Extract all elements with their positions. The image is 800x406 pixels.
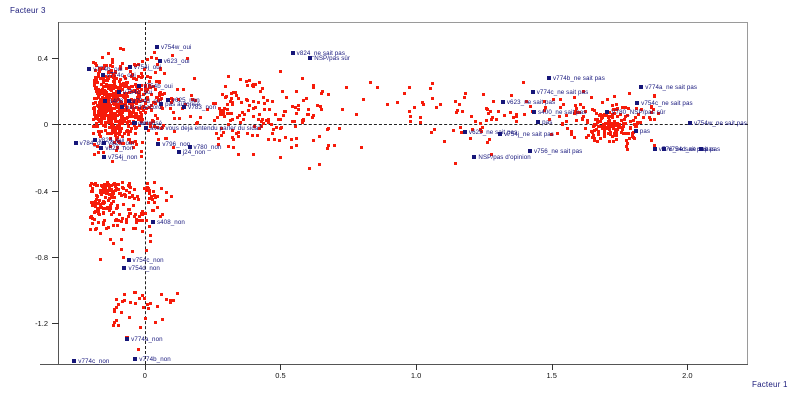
modality-point — [132, 121, 136, 125]
individual-point — [258, 113, 261, 116]
individual-point — [515, 120, 518, 123]
individual-point — [278, 139, 281, 142]
individual-point — [119, 83, 122, 86]
individual-point — [140, 150, 143, 153]
individual-point — [600, 114, 603, 117]
individual-point — [259, 90, 262, 93]
individual-point — [107, 52, 110, 55]
individual-point — [216, 116, 219, 119]
individual-point — [246, 99, 249, 102]
individual-point — [116, 224, 119, 227]
individual-point — [145, 219, 148, 222]
modality-point — [291, 51, 295, 55]
individual-point — [615, 129, 618, 132]
individual-point — [153, 181, 156, 184]
individual-point — [97, 221, 100, 224]
individual-point — [163, 92, 166, 95]
individual-point — [112, 92, 115, 95]
modality-point — [158, 59, 162, 63]
individual-point — [154, 321, 157, 324]
individual-point — [94, 210, 97, 213]
individual-point — [89, 184, 92, 187]
individual-point — [123, 132, 126, 135]
individual-point — [138, 219, 141, 222]
point-label: v756_ne sait pas — [534, 148, 582, 155]
individual-point — [301, 77, 304, 80]
individual-point — [134, 291, 137, 294]
individual-point — [254, 83, 257, 86]
point-label: v774c_non — [78, 358, 109, 365]
plot-frame-top — [58, 22, 748, 23]
individual-point — [102, 223, 105, 226]
individual-point — [607, 132, 610, 135]
individual-point — [650, 139, 653, 142]
x-tick — [687, 364, 688, 370]
individual-point — [273, 138, 276, 141]
individual-point — [605, 114, 608, 117]
individual-point — [139, 111, 142, 114]
individual-point — [615, 138, 618, 141]
individual-point — [291, 105, 294, 108]
individual-point — [120, 194, 123, 197]
individual-point — [469, 137, 472, 140]
individual-point — [413, 106, 416, 109]
modality-point — [102, 155, 106, 159]
individual-point — [117, 219, 120, 222]
individual-point — [319, 105, 322, 108]
individual-point — [653, 118, 656, 121]
individual-point — [295, 90, 298, 93]
individual-point — [107, 199, 110, 202]
individual-point — [522, 81, 525, 84]
individual-point — [613, 95, 616, 98]
individual-point — [624, 122, 627, 125]
x-tick-label: 2.0 — [672, 371, 702, 380]
modality-point — [74, 141, 78, 145]
modality-point — [463, 130, 467, 134]
individual-point — [109, 238, 112, 241]
modality-point — [72, 359, 76, 363]
y-tick — [52, 323, 59, 324]
individual-point — [232, 138, 235, 141]
individual-point — [110, 123, 113, 126]
individual-point — [226, 108, 229, 111]
individual-point — [120, 220, 123, 223]
individual-point — [145, 249, 148, 252]
individual-point — [153, 201, 156, 204]
individual-point — [94, 200, 97, 203]
individual-point — [237, 97, 240, 100]
individual-point — [419, 116, 422, 119]
individual-point — [628, 92, 631, 95]
point-label: v623_oui — [164, 58, 190, 65]
individual-point — [101, 185, 104, 188]
individual-point — [118, 111, 121, 114]
individual-point — [510, 94, 513, 97]
modality-point — [177, 150, 181, 154]
individual-point — [151, 209, 154, 212]
individual-point — [461, 110, 464, 113]
individual-point — [133, 188, 136, 191]
modality-point — [634, 129, 638, 133]
individual-point — [122, 48, 125, 51]
individual-point — [224, 96, 227, 99]
individual-point — [231, 101, 234, 104]
individual-point — [112, 224, 115, 227]
point-label: s400_ne sait pas — [538, 109, 586, 116]
point-label: v754w_oui — [161, 44, 191, 51]
individual-point — [102, 211, 105, 214]
individual-point — [153, 51, 156, 54]
individual-point — [105, 79, 108, 82]
individual-point — [454, 100, 457, 103]
individual-point — [147, 201, 150, 204]
individual-point — [626, 142, 629, 145]
individual-point — [97, 91, 100, 94]
point-label: v754c_oui — [123, 89, 152, 96]
individual-point — [327, 93, 330, 96]
individual-point — [150, 195, 153, 198]
y-tick-label: -0.4 — [18, 187, 48, 196]
individual-point — [592, 134, 595, 137]
individual-point — [362, 98, 365, 101]
individual-point — [93, 97, 96, 100]
individual-point — [128, 196, 131, 199]
individual-point — [100, 130, 103, 133]
point-label: v625_non — [172, 97, 200, 104]
individual-point — [118, 130, 121, 133]
individual-point — [615, 134, 618, 137]
individual-point — [266, 99, 269, 102]
individual-point — [653, 144, 656, 147]
individual-point — [584, 127, 587, 130]
individual-point — [98, 120, 101, 123]
individual-point — [189, 115, 192, 118]
individual-point — [164, 137, 167, 140]
individual-point — [595, 128, 598, 131]
individual-point — [109, 207, 112, 210]
individual-point — [134, 132, 137, 135]
point-label: v774c_ne sait pas — [537, 89, 589, 96]
individual-point — [318, 135, 321, 138]
individual-point — [246, 132, 249, 135]
individual-point — [515, 113, 518, 116]
modality-point — [155, 45, 159, 49]
individual-point — [113, 183, 116, 186]
individual-point — [98, 133, 101, 136]
y-tick-label: 0.4 — [18, 54, 48, 63]
individual-point — [360, 146, 363, 149]
point-label: v754w_ne sait pas — [694, 120, 747, 127]
point-label: pas — [542, 119, 552, 126]
individual-point — [318, 163, 321, 166]
modality-point — [605, 110, 609, 114]
modality-point — [137, 84, 141, 88]
individual-point — [338, 127, 341, 130]
individual-point — [280, 126, 283, 129]
individual-point — [111, 192, 114, 195]
individual-point — [459, 126, 462, 129]
individual-point — [230, 112, 233, 115]
individual-point — [111, 126, 114, 129]
individual-point — [485, 119, 488, 122]
individual-point — [482, 93, 485, 96]
individual-point — [603, 130, 606, 133]
y-axis-line — [58, 22, 59, 364]
individual-point — [235, 132, 238, 135]
modality-point — [87, 67, 91, 71]
individual-point — [115, 207, 118, 210]
individual-point — [134, 302, 137, 305]
individual-point — [105, 207, 108, 210]
individual-point — [226, 103, 229, 106]
individual-point — [97, 104, 100, 107]
individual-point — [593, 124, 596, 127]
individual-point — [463, 96, 466, 99]
individual-point — [591, 108, 594, 111]
individual-point — [612, 140, 615, 143]
individual-point — [224, 85, 227, 88]
modality-point — [547, 76, 551, 80]
vertical-zero-line — [145, 22, 146, 364]
individual-point — [142, 306, 145, 309]
modality-point — [501, 100, 505, 104]
individual-point — [297, 108, 300, 111]
individual-point — [277, 118, 280, 121]
individual-point — [492, 100, 495, 103]
individual-point — [639, 121, 642, 124]
individual-point — [104, 85, 107, 88]
individual-point — [629, 127, 632, 130]
individual-point — [139, 326, 142, 329]
individual-point — [100, 89, 103, 92]
individual-point — [252, 100, 255, 103]
individual-point — [556, 132, 559, 135]
point-label: v774b_ne sait pas — [553, 75, 605, 82]
individual-point — [149, 302, 152, 305]
individual-point — [104, 104, 107, 107]
individual-point — [333, 144, 336, 147]
individual-point — [634, 125, 637, 128]
individual-point — [127, 215, 130, 218]
individual-point — [443, 140, 446, 143]
individual-point — [653, 95, 656, 98]
individual-point — [152, 190, 155, 193]
individual-point — [176, 292, 179, 295]
individual-point — [213, 119, 216, 122]
individual-point — [232, 146, 235, 149]
point-label: NSP/pas d'opinion — [478, 154, 530, 161]
point-label: v783_non — [188, 104, 216, 111]
individual-point — [127, 208, 130, 211]
individual-point — [160, 187, 163, 190]
x-tick-label: 0.5 — [265, 371, 295, 380]
individual-point — [91, 204, 94, 207]
individual-point — [144, 212, 147, 215]
modality-point — [120, 105, 124, 109]
individual-point — [138, 297, 141, 300]
individual-point — [261, 118, 264, 121]
individual-point — [295, 137, 298, 140]
individual-point — [127, 133, 130, 136]
x-tick — [552, 364, 553, 370]
modality-point — [125, 337, 129, 341]
individual-point — [597, 133, 600, 136]
individual-point — [104, 124, 107, 127]
individual-point — [611, 104, 614, 107]
individual-point — [99, 203, 102, 206]
individual-point — [199, 116, 202, 119]
individual-point — [148, 225, 151, 228]
individual-point — [137, 198, 140, 201]
individual-point — [105, 91, 108, 94]
individual-point — [606, 98, 609, 101]
individual-point — [119, 47, 122, 50]
individual-point — [124, 85, 127, 88]
individual-point — [149, 240, 152, 243]
individual-point — [120, 248, 123, 251]
x-axis-title: Facteur 1 — [752, 380, 788, 389]
individual-point — [246, 84, 249, 87]
individual-point — [95, 122, 98, 125]
individual-point — [149, 234, 152, 237]
individual-point — [573, 136, 576, 139]
individual-point — [266, 119, 269, 122]
individual-point — [112, 242, 115, 245]
individual-point — [141, 75, 144, 78]
individual-point — [226, 112, 229, 115]
individual-point — [150, 56, 153, 59]
individual-point — [128, 316, 131, 319]
individual-point — [268, 108, 271, 111]
individual-point — [137, 75, 140, 78]
individual-point — [99, 191, 102, 194]
individual-point — [561, 123, 564, 126]
point-label: v754j_ne sait pas — [504, 131, 554, 138]
individual-point — [274, 113, 277, 116]
individual-point — [326, 147, 329, 150]
individual-point — [301, 119, 304, 122]
point-label: v754c_ne sait pas — [641, 100, 693, 107]
individual-point — [193, 77, 196, 80]
individual-point — [157, 138, 160, 141]
modality-point — [103, 99, 107, 103]
individual-point — [103, 219, 106, 222]
individual-point — [133, 215, 136, 218]
individual-point — [89, 228, 92, 231]
individual-point — [579, 103, 582, 106]
individual-point — [454, 162, 457, 165]
individual-point — [170, 195, 173, 198]
individual-point — [99, 258, 102, 261]
individual-point — [132, 227, 135, 230]
modality-point — [635, 101, 639, 105]
individual-point — [137, 348, 140, 351]
individual-point — [275, 126, 278, 129]
modality-point — [653, 147, 657, 151]
individual-point — [241, 111, 244, 114]
individual-point — [297, 104, 300, 107]
individual-point — [282, 114, 285, 117]
individual-point — [312, 114, 315, 117]
individual-point — [248, 104, 251, 107]
individual-point — [111, 84, 114, 87]
individual-point — [130, 127, 133, 130]
modality-point — [101, 73, 105, 77]
individual-point — [295, 144, 298, 147]
individual-point — [627, 132, 630, 135]
individual-point — [121, 181, 124, 184]
individual-point — [595, 112, 598, 115]
individual-point — [196, 121, 199, 124]
individual-point — [272, 128, 275, 131]
individual-point — [93, 218, 96, 221]
individual-point — [512, 116, 515, 119]
individual-point — [632, 119, 635, 122]
individual-point — [97, 212, 100, 215]
individual-point — [430, 131, 433, 134]
individual-point — [284, 136, 287, 139]
individual-point — [251, 84, 254, 87]
point-label: v623_ne sait pas — [507, 99, 555, 106]
modality-point — [122, 266, 126, 270]
individual-point — [119, 86, 122, 89]
individual-point — [245, 80, 248, 83]
individual-point — [97, 209, 100, 212]
individual-point — [131, 85, 134, 88]
modality-point — [117, 90, 121, 94]
individual-point — [431, 97, 434, 100]
individual-point — [429, 87, 432, 90]
individual-point — [327, 144, 330, 147]
individual-point — [91, 222, 94, 225]
individual-point — [603, 124, 606, 127]
individual-point — [587, 134, 590, 137]
individual-point — [134, 114, 137, 117]
y-tick-label: -0.8 — [18, 253, 48, 262]
individual-point — [140, 155, 143, 158]
individual-point — [159, 92, 162, 95]
individual-point — [581, 118, 584, 121]
individual-point — [222, 113, 225, 116]
individual-point — [176, 88, 179, 91]
individual-point — [491, 116, 494, 119]
individual-point — [122, 228, 125, 231]
individual-point — [281, 90, 284, 93]
modality-point — [531, 90, 535, 94]
individual-point — [369, 81, 372, 84]
individual-point — [125, 189, 128, 192]
individual-point — [105, 110, 108, 113]
individual-point — [290, 138, 293, 141]
individual-point — [141, 230, 144, 233]
point-label: v823_non — [105, 145, 133, 152]
individual-point — [452, 129, 455, 132]
modality-point — [128, 65, 132, 69]
individual-point — [121, 111, 124, 114]
point-label: v774a_non — [131, 336, 163, 343]
individual-point — [131, 195, 134, 198]
individual-point — [267, 138, 270, 141]
individual-point — [94, 76, 97, 79]
chart-canvas: Facteur 3 Facteur 1 0.40-0.4-0.8-1.2 00.… — [0, 0, 800, 406]
individual-point — [123, 299, 126, 302]
individual-point — [147, 307, 150, 310]
x-tick — [145, 364, 146, 370]
individual-point — [102, 81, 105, 84]
point-label: v796_non — [162, 141, 190, 148]
individual-point — [114, 118, 117, 121]
